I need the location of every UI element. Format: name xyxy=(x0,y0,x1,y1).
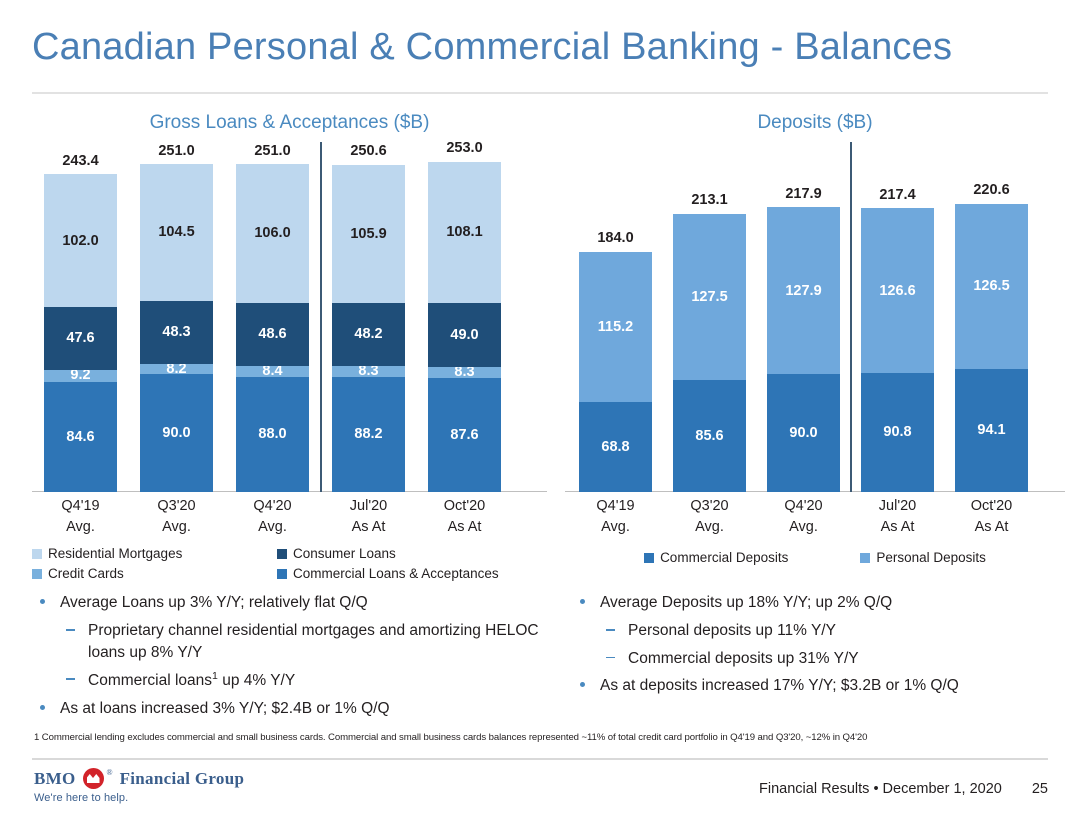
bar-segment-commercial-deposits: 85.6 xyxy=(673,380,746,492)
category-line-2: Avg. xyxy=(565,517,666,538)
bar-segment-residential-mortgages: 108.1 xyxy=(428,162,501,303)
bar-segment-commercial-loans-acceptances: 87.6 xyxy=(428,378,501,492)
bar-segment-credit-cards: 8.3 xyxy=(332,366,405,377)
category-label-4: Oct'20As At xyxy=(414,496,515,538)
category-label-0: Q4'19Avg. xyxy=(565,496,666,538)
bar-segment-commercial-loans-acceptances: 84.6 xyxy=(44,382,117,492)
bar-segment-commercial-loans-acceptances: 90.0 xyxy=(140,374,213,492)
chart-title-deposits: Deposits ($B) xyxy=(565,112,1065,136)
bar-total-label: 217.9 xyxy=(767,187,840,202)
chart-title-gross-loans: Gross Loans & Acceptances ($B) xyxy=(32,112,547,136)
footnote: 1 Commercial lending excludes commercial… xyxy=(34,732,1054,743)
bar-segment-consumer-loans: 49.0 xyxy=(428,303,501,367)
category-line-2: Avg. xyxy=(126,517,227,538)
legend-deposits: Commercial DepositsPersonal Deposits xyxy=(565,548,1065,568)
bullet-text: Average Loans up 3% Y/Y; relatively flat… xyxy=(60,594,368,611)
bar-total-label: 251.0 xyxy=(236,144,309,159)
registered-mark: ® xyxy=(107,768,113,777)
bar-segment-consumer-loans: 47.6 xyxy=(44,307,117,369)
bullet-deposits-0: Average Deposits up 18% Y/Y; up 2% Q/Q xyxy=(574,592,1066,614)
bar-segment-commercial-loans-acceptances: 88.2 xyxy=(332,377,405,492)
category-line-2: As At xyxy=(414,517,515,538)
bullet-text: As at deposits increased 17% Y/Y; $3.2B … xyxy=(600,677,959,694)
bullet-list-deposits: Average Deposits up 18% Y/Y; up 2% Q/QPe… xyxy=(574,592,1066,703)
bullet-dot-icon xyxy=(40,705,45,710)
bullet-text: Personal deposits up 11% Y/Y xyxy=(628,622,836,639)
category-line-1: Q4'20 xyxy=(222,496,323,517)
footer-divider xyxy=(32,758,1048,760)
bmo-wordmark: BMO xyxy=(34,769,76,789)
plot-area-deposits: 184.0115.268.8213.1127.585.6217.9127.990… xyxy=(565,142,1065,492)
category-label-3: Jul'20As At xyxy=(847,496,948,538)
bar-total-label: 251.0 xyxy=(140,144,213,159)
bmo-logo: BMO ® Financial Group We're here to help… xyxy=(34,768,244,804)
category-line-1: Q4'19 xyxy=(30,496,131,517)
bar-segment-commercial-deposits: 68.8 xyxy=(579,402,652,492)
bar-segment-credit-cards: 9.2 xyxy=(44,370,117,382)
footer-meta: Financial Results • December 1, 2020 25 xyxy=(759,781,1048,797)
bar-segment-consumer-loans: 48.6 xyxy=(236,303,309,366)
category-labels-gross-loans: Q4'19Avg.Q3'20Avg.Q4'20Avg.Jul'20As AtOc… xyxy=(32,496,547,542)
category-line-2: As At xyxy=(941,517,1042,538)
legend-gross-loans: Residential MortgagesConsumer LoansCredi… xyxy=(32,544,547,585)
chart-section-divider xyxy=(320,142,322,492)
bar-segment-consumer-loans: 48.3 xyxy=(140,301,213,364)
footer-event-text: Financial Results • December 1, 2020 xyxy=(759,781,1002,797)
bar-gross-loans-1: 251.0104.548.38.290.0 xyxy=(140,164,213,492)
bullet-loans-1: Proprietary channel residential mortgage… xyxy=(34,620,564,663)
bar-gross-loans-2: 251.0106.048.68.488.0 xyxy=(236,164,309,492)
bar-segment-credit-cards: 8.4 xyxy=(236,366,309,377)
bullet-deposits-1: Personal deposits up 11% Y/Y xyxy=(574,620,1066,642)
category-line-1: Q4'20 xyxy=(753,496,854,517)
bullet-list-loans: Average Loans up 3% Y/Y; relatively flat… xyxy=(34,592,564,726)
legend-item-residential-mortgages[interactable]: Residential Mortgages xyxy=(32,544,277,564)
legend-swatch-icon xyxy=(277,569,287,579)
plot-area-gross-loans: 243.4102.047.69.284.6251.0104.548.38.290… xyxy=(32,142,547,492)
bar-segment-commercial-deposits: 90.8 xyxy=(861,373,934,492)
bullet-dot-icon xyxy=(580,682,585,687)
bar-segment-commercial-loans-acceptances: 88.0 xyxy=(236,377,309,492)
bar-segment-credit-cards: 8.2 xyxy=(140,364,213,375)
bullet-dash-icon xyxy=(66,629,75,631)
category-line-1: Jul'20 xyxy=(847,496,948,517)
legend-swatch-icon xyxy=(644,553,654,563)
category-label-1: Q3'20Avg. xyxy=(659,496,760,538)
bmo-tagline: We're here to help. xyxy=(34,792,244,804)
legend-item-credit-cards[interactable]: Credit Cards xyxy=(32,564,277,584)
bullet-dot-icon xyxy=(580,599,585,604)
legend-label: Commercial Loans & Acceptances xyxy=(293,564,499,584)
bullet-dash-icon xyxy=(66,678,75,680)
category-line-2: As At xyxy=(847,517,948,538)
bar-deposits-0: 184.0115.268.8 xyxy=(579,252,652,492)
bar-deposits-3: 217.4126.690.8 xyxy=(861,208,934,492)
bar-deposits-1: 213.1127.585.6 xyxy=(673,214,746,492)
bullet-text: Commercial loans xyxy=(88,673,212,690)
bullet-dot-icon xyxy=(40,599,45,604)
category-label-0: Q4'19Avg. xyxy=(30,496,131,538)
legend-swatch-icon xyxy=(32,569,42,579)
category-line-2: Avg. xyxy=(222,517,323,538)
bar-gross-loans-3: 250.6105.948.28.388.2 xyxy=(332,165,405,492)
chart-deposits: Deposits ($B) 184.0115.268.8213.1127.585… xyxy=(565,112,1065,568)
bullet-dash-icon xyxy=(606,657,615,659)
bar-gross-loans-0: 243.4102.047.69.284.6 xyxy=(44,174,117,492)
bar-segment-personal-deposits: 115.2 xyxy=(579,252,652,402)
bar-segment-personal-deposits: 126.5 xyxy=(955,204,1028,369)
bar-segment-residential-mortgages: 105.9 xyxy=(332,165,405,303)
bar-segment-commercial-deposits: 90.0 xyxy=(767,374,840,492)
bar-segment-credit-cards: 8.3 xyxy=(428,367,501,378)
bar-segment-residential-mortgages: 102.0 xyxy=(44,174,117,307)
bar-total-label: 217.4 xyxy=(861,188,934,203)
category-label-2: Q4'20Avg. xyxy=(222,496,323,538)
legend-item-personal-deposits[interactable]: Personal Deposits xyxy=(860,548,986,568)
legend-item-commercial-loans-acceptances[interactable]: Commercial Loans & Acceptances xyxy=(277,564,499,584)
bar-total-label: 184.0 xyxy=(579,231,652,246)
category-label-2: Q4'20Avg. xyxy=(753,496,854,538)
category-line-1: Jul'20 xyxy=(318,496,419,517)
page-title: Canadian Personal & Commercial Banking -… xyxy=(32,26,952,69)
bar-deposits-4: 220.6126.594.1 xyxy=(955,204,1028,492)
bar-segment-personal-deposits: 127.9 xyxy=(767,207,840,374)
legend-label: Credit Cards xyxy=(48,564,124,584)
bar-segment-consumer-loans: 48.2 xyxy=(332,303,405,366)
bar-segment-residential-mortgages: 104.5 xyxy=(140,164,213,300)
category-line-1: Oct'20 xyxy=(414,496,515,517)
legend-swatch-icon xyxy=(277,549,287,559)
category-label-3: Jul'20As At xyxy=(318,496,419,538)
bullet-text-continued: up 4% Y/Y xyxy=(218,673,295,690)
bullet-deposits-2: Commercial deposits up 31% Y/Y xyxy=(574,648,1066,670)
category-line-1: Q3'20 xyxy=(126,496,227,517)
bar-segment-commercial-deposits: 94.1 xyxy=(955,369,1028,492)
bar-segment-residential-mortgages: 106.0 xyxy=(236,164,309,302)
category-line-1: Oct'20 xyxy=(941,496,1042,517)
legend-label: Consumer Loans xyxy=(293,544,396,564)
category-line-2: As At xyxy=(318,517,419,538)
legend-swatch-icon xyxy=(32,549,42,559)
bullet-loans-0: Average Loans up 3% Y/Y; relatively flat… xyxy=(34,592,564,614)
legend-label: Residential Mortgages xyxy=(48,544,182,564)
category-line-1: Q3'20 xyxy=(659,496,760,517)
category-line-2: Avg. xyxy=(30,517,131,538)
bullet-text: As at loans increased 3% Y/Y; $2.4B or 1… xyxy=(60,700,390,717)
category-label-1: Q3'20Avg. xyxy=(126,496,227,538)
chart-section-divider xyxy=(850,142,852,492)
bar-deposits-2: 217.9127.990.0 xyxy=(767,207,840,492)
bmo-financial-group-text: Financial Group xyxy=(120,769,245,789)
category-line-2: Avg. xyxy=(659,517,760,538)
bmo-roundel-icon xyxy=(83,768,104,789)
bullet-text: Commercial deposits up 31% Y/Y xyxy=(628,650,859,667)
bar-total-label: 220.6 xyxy=(955,183,1028,198)
bar-segment-personal-deposits: 127.5 xyxy=(673,214,746,381)
bar-total-label: 253.0 xyxy=(428,141,501,156)
legend-item-consumer-loans[interactable]: Consumer Loans xyxy=(277,544,396,564)
bar-total-label: 250.6 xyxy=(332,144,405,159)
category-line-2: Avg. xyxy=(753,517,854,538)
page-number: 25 xyxy=(1032,781,1048,797)
bullet-dash-icon xyxy=(606,629,615,631)
bullet-loans-3: As at loans increased 3% Y/Y; $2.4B or 1… xyxy=(34,698,564,720)
category-line-1: Q4'19 xyxy=(565,496,666,517)
chart-gross-loans: Gross Loans & Acceptances ($B) 243.4102.… xyxy=(32,112,547,585)
legend-item-commercial-deposits[interactable]: Commercial Deposits xyxy=(644,548,788,568)
category-label-4: Oct'20As At xyxy=(941,496,1042,538)
legend-label: Commercial Deposits xyxy=(660,548,788,568)
legend-label: Personal Deposits xyxy=(876,548,986,568)
bullet-loans-2: Commercial loans1 up 4% Y/Y xyxy=(34,669,564,692)
legend-row: Residential MortgagesConsumer Loans xyxy=(32,544,547,564)
category-labels-deposits: Q4'19Avg.Q3'20Avg.Q4'20Avg.Jul'20As AtOc… xyxy=(565,496,1065,542)
bar-total-label: 243.4 xyxy=(44,154,117,169)
legend-row: Credit CardsCommercial Loans & Acceptanc… xyxy=(32,564,547,584)
bar-segment-personal-deposits: 126.6 xyxy=(861,208,934,373)
bullet-text: Average Deposits up 18% Y/Y; up 2% Q/Q xyxy=(600,594,892,611)
bullet-deposits-3: As at deposits increased 17% Y/Y; $3.2B … xyxy=(574,675,1066,697)
legend-swatch-icon xyxy=(860,553,870,563)
bullet-text: Proprietary channel residential mortgage… xyxy=(88,622,539,661)
bar-total-label: 213.1 xyxy=(673,193,746,208)
header-divider xyxy=(32,92,1048,94)
bar-gross-loans-4: 253.0108.149.08.387.6 xyxy=(428,162,501,492)
